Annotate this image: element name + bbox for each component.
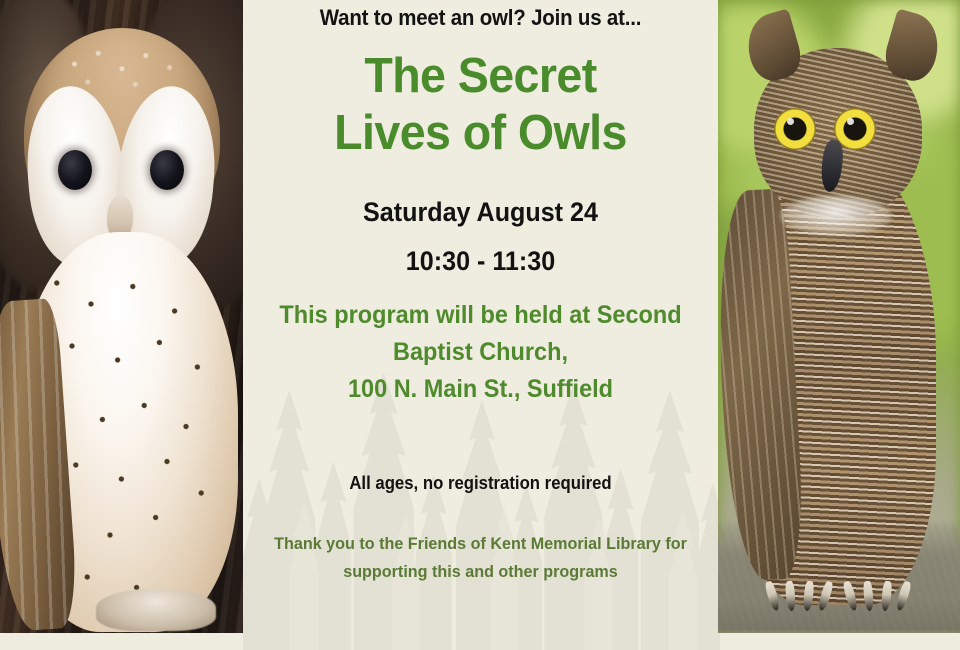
thanks-line-1: Thank you to the Friends of Kent Memoria… <box>255 530 706 558</box>
title-line-2: Lives of Owls <box>255 105 706 162</box>
venue-line-2: Baptist Church, <box>257 334 704 371</box>
sponsor-acknowledgement: Thank you to the Friends of Kent Memoria… <box>255 530 706 585</box>
poster-text-column: Want to meet an owl? Join us at... The S… <box>243 0 718 650</box>
title-line-1: The Secret <box>255 48 706 105</box>
event-venue: This program will be held at Second Bapt… <box>257 297 704 408</box>
venue-line-3: 100 N. Main St., Suffield <box>257 371 704 408</box>
venue-line-1: This program will be held at Second <box>257 297 704 334</box>
barn-owl-eye-left <box>58 150 92 190</box>
great-horned-owl-photo <box>718 0 960 633</box>
owl-program-poster: Want to meet an owl? Join us at... The S… <box>0 0 960 650</box>
event-date: Saturday August 24 <box>260 197 702 228</box>
event-time: 10:30 - 11:30 <box>260 246 702 277</box>
thanks-line-2: supporting this and other programs <box>255 558 706 586</box>
barn-owl-feet <box>96 589 216 631</box>
eye-glint-right <box>847 118 854 125</box>
talons-left <box>764 565 838 611</box>
barn-owl-photo <box>0 0 243 633</box>
white-throat-bib <box>780 196 892 236</box>
registration-note: All ages, no registration required <box>260 473 702 494</box>
talons-right <box>842 565 916 611</box>
eye-glint-left <box>787 118 794 125</box>
tagline: Want to meet an owl? Join us at... <box>260 5 702 31</box>
great-horned-owl-eye-left <box>774 108 816 150</box>
poster-title: The Secret Lives of Owls <box>255 48 706 162</box>
barn-owl-eye-right <box>150 150 184 190</box>
